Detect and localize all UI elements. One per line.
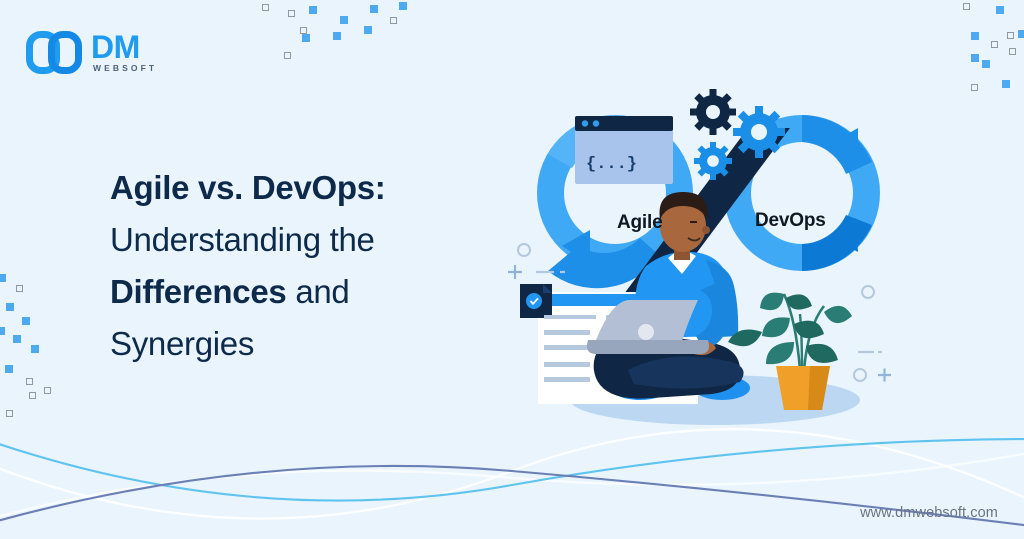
decor-square	[982, 60, 990, 68]
gear-blue-small-icon	[694, 142, 732, 180]
illustration-svg	[500, 70, 920, 440]
decor-square	[971, 84, 978, 91]
loop-label-devops: DevOps	[755, 210, 826, 232]
loop-label-agile: Agile	[617, 212, 662, 234]
decor-square	[963, 3, 970, 10]
footer-url[interactable]: www.dmwebsoft.com	[860, 505, 998, 521]
logo-ring-right	[48, 31, 82, 74]
decor-square	[996, 6, 1004, 14]
decor-square	[971, 32, 979, 40]
decor-square	[13, 335, 21, 343]
logo-brand-text: DM	[91, 32, 157, 62]
decor-square	[0, 327, 5, 335]
headline-line-2: Understanding the	[110, 214, 386, 266]
decor-square	[302, 34, 310, 42]
gear-blue-large-icon	[733, 106, 785, 158]
logo-tagline: WEBSOFT	[93, 63, 157, 73]
decor-square	[29, 392, 36, 399]
decor-square	[26, 378, 33, 385]
gear-dark-icon	[690, 89, 736, 135]
decor-square	[300, 27, 307, 34]
decor-square	[22, 317, 30, 325]
headline-segment: Understanding the	[110, 221, 375, 258]
headline-segment-bold: Differences	[110, 273, 286, 310]
decor-square	[971, 54, 979, 62]
decor-square	[284, 52, 291, 59]
decor-square	[0, 274, 6, 282]
decor-square	[262, 4, 269, 11]
decor-square	[399, 2, 407, 10]
decor-square	[364, 26, 372, 34]
logo-mark-icon	[26, 31, 82, 74]
decor-square	[1007, 32, 1014, 39]
logo-wordmark: DM WEBSOFT	[91, 32, 157, 73]
decor-square	[16, 285, 23, 292]
page-title: Agile vs. DevOps: Understanding the Diff…	[110, 162, 386, 371]
decor-square	[309, 6, 317, 14]
agile-devops-infinity-illustration: Agile DevOps {...}	[500, 70, 920, 440]
headline-line-3: Differences and	[110, 266, 386, 318]
decor-square	[340, 16, 348, 24]
decor-square	[1002, 80, 1010, 88]
headline-line-1: Agile vs. DevOps:	[110, 162, 386, 214]
banner-canvas: DM WEBSOFT Agile vs. DevOps: Understandi…	[0, 0, 1024, 539]
decor-square	[44, 387, 51, 394]
decor-square	[1009, 48, 1016, 55]
decor-square	[390, 17, 397, 24]
decor-square	[370, 5, 378, 13]
code-window-text: {...}	[586, 155, 637, 174]
decor-marks-right	[854, 286, 891, 382]
brand-logo[interactable]: DM WEBSOFT	[26, 31, 157, 74]
decor-square	[1018, 30, 1024, 38]
decor-square	[991, 41, 998, 48]
decor-square	[6, 410, 13, 417]
decor-square	[5, 365, 13, 373]
decorative-waves	[0, 419, 1024, 539]
headline-segment: and	[286, 273, 349, 310]
decor-square	[333, 32, 341, 40]
headline-line-4: Synergies	[110, 318, 386, 370]
headline-segment: Agile vs. DevOps:	[110, 169, 386, 206]
decor-square	[6, 303, 14, 311]
headline-segment: Synergies	[110, 325, 254, 362]
decor-square	[288, 10, 295, 17]
decor-square	[31, 345, 39, 353]
